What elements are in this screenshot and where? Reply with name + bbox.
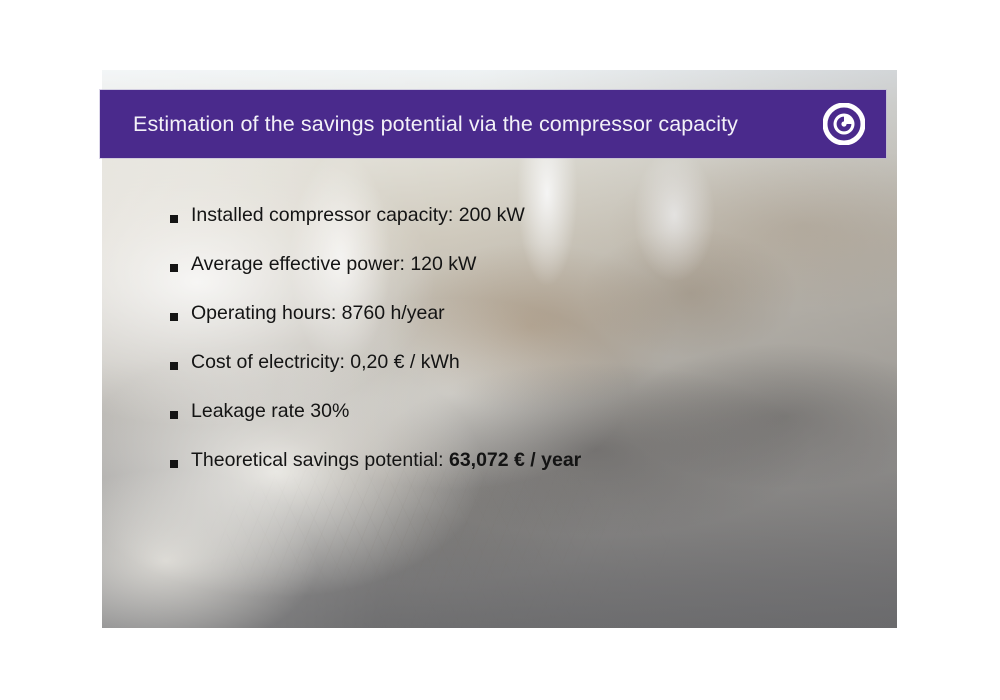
logo-container [814,90,874,158]
bullet-text-highlighted: Theoretical savings potential: 63,072 € … [191,450,581,470]
square-bullet-icon [170,411,178,419]
bullet-text: Leakage rate 30% [191,401,349,421]
bullet-text-lead: Theoretical savings potential: [191,449,449,471]
list-item: Average effective power: 120 kW [170,254,830,274]
bullet-text: Installed compressor capacity: 200 kW [191,205,525,225]
square-bullet-icon [170,460,178,468]
slide-title: Estimation of the savings potential via … [133,112,814,137]
bullet-list: Installed compressor capacity: 200 kW Av… [170,205,830,499]
list-item: Cost of electricity: 0,20 € / kWh [170,352,830,372]
target-swirl-logo-icon [823,103,865,145]
square-bullet-icon [170,313,178,321]
list-item: Installed compressor capacity: 200 kW [170,205,830,225]
slide-canvas: Estimation of the savings potential via … [0,0,1000,700]
list-item: Leakage rate 30% [170,401,830,421]
square-bullet-icon [170,215,178,223]
bullet-text: Average effective power: 120 kW [191,254,476,274]
savings-value: 63,072 € / year [449,449,581,471]
title-banner: Estimation of the savings potential via … [100,90,886,158]
bullet-text: Operating hours: 8760 h/year [191,303,445,323]
list-item: Theoretical savings potential: 63,072 € … [170,450,830,470]
list-item: Operating hours: 8760 h/year [170,303,830,323]
square-bullet-icon [170,264,178,272]
bullet-text: Cost of electricity: 0,20 € / kWh [191,352,460,372]
square-bullet-icon [170,362,178,370]
